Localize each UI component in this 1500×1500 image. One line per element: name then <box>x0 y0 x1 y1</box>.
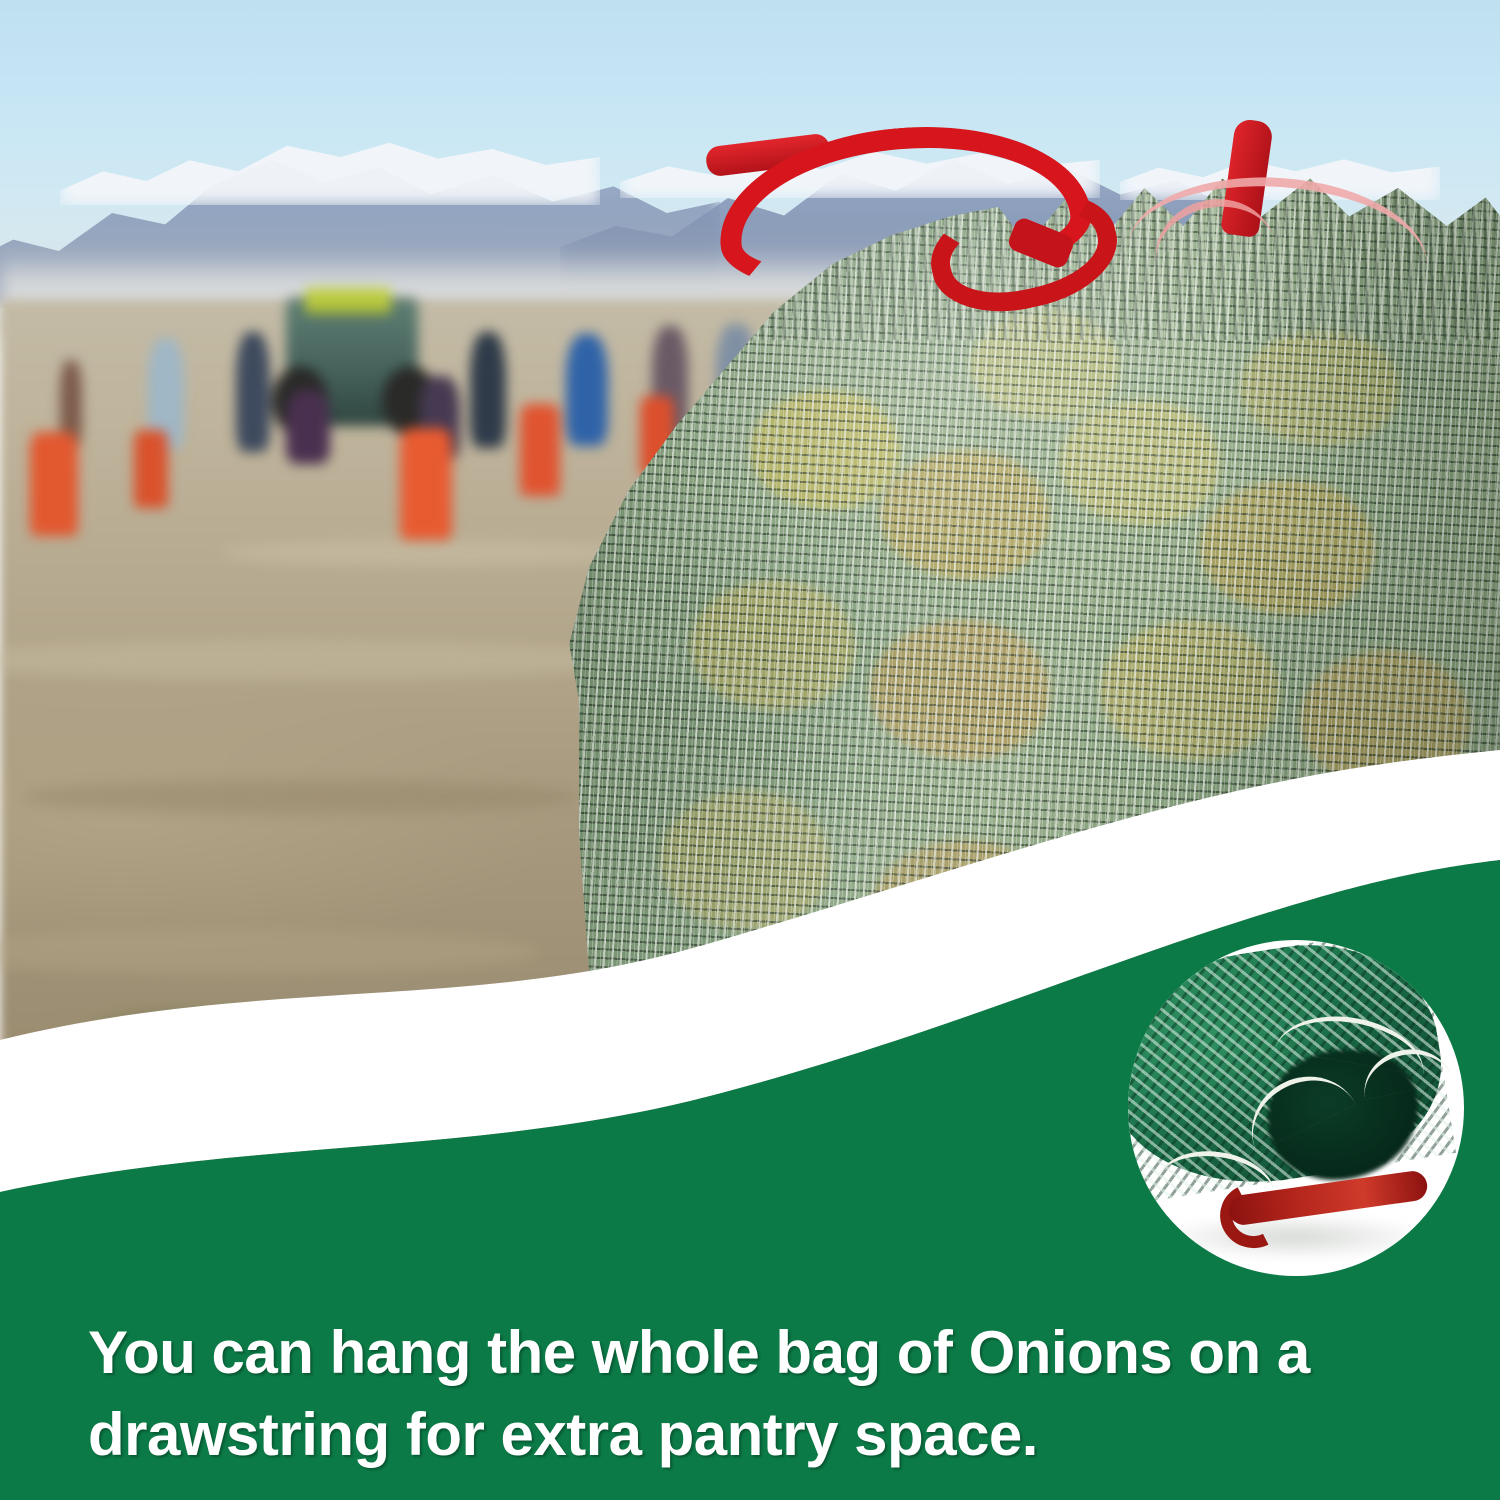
field-worker <box>236 332 270 452</box>
field-worker <box>470 332 506 448</box>
harvest-sack <box>400 428 452 540</box>
harvest-crew-group <box>0 280 760 480</box>
detail-inset-circle <box>1128 940 1464 1276</box>
harvest-sack <box>30 432 78 536</box>
inset-clip <box>1128 940 1464 1276</box>
caption-text: You can hang the whole bag of Onions on … <box>88 1312 1338 1476</box>
field-streak <box>220 540 640 566</box>
harvest-sack <box>134 430 168 508</box>
tractor-cab <box>305 288 391 314</box>
harvest-sack <box>520 404 560 496</box>
inset-drop-shadow <box>1154 1214 1434 1260</box>
field-worker <box>566 334 608 446</box>
field-worker <box>286 390 330 464</box>
product-image-canvas: You can hang the whole bag of Onions on … <box>0 0 1500 1500</box>
